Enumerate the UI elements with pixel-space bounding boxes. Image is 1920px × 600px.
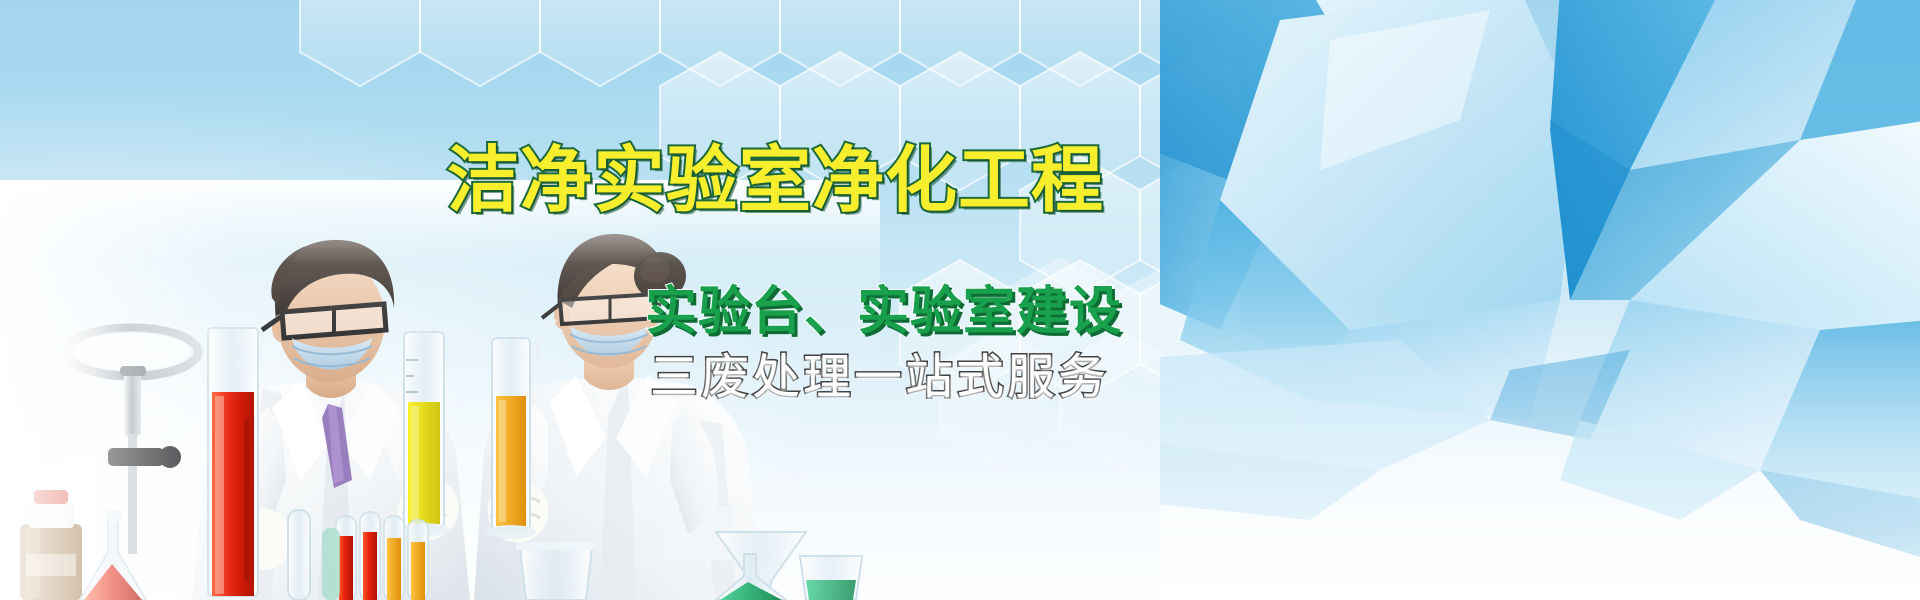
banner-root: 洁净实验室净化工程 实验台、实验室建设 三废处理一站式服务	[0, 0, 1920, 600]
laboratory-scientists-photo	[0, 180, 880, 600]
clear-test-tube	[288, 510, 310, 600]
green-beaker	[800, 556, 862, 600]
clear-beaker	[516, 542, 596, 600]
test-tube-rack	[322, 512, 428, 600]
blue-crystal-polygons	[1160, 0, 1920, 600]
